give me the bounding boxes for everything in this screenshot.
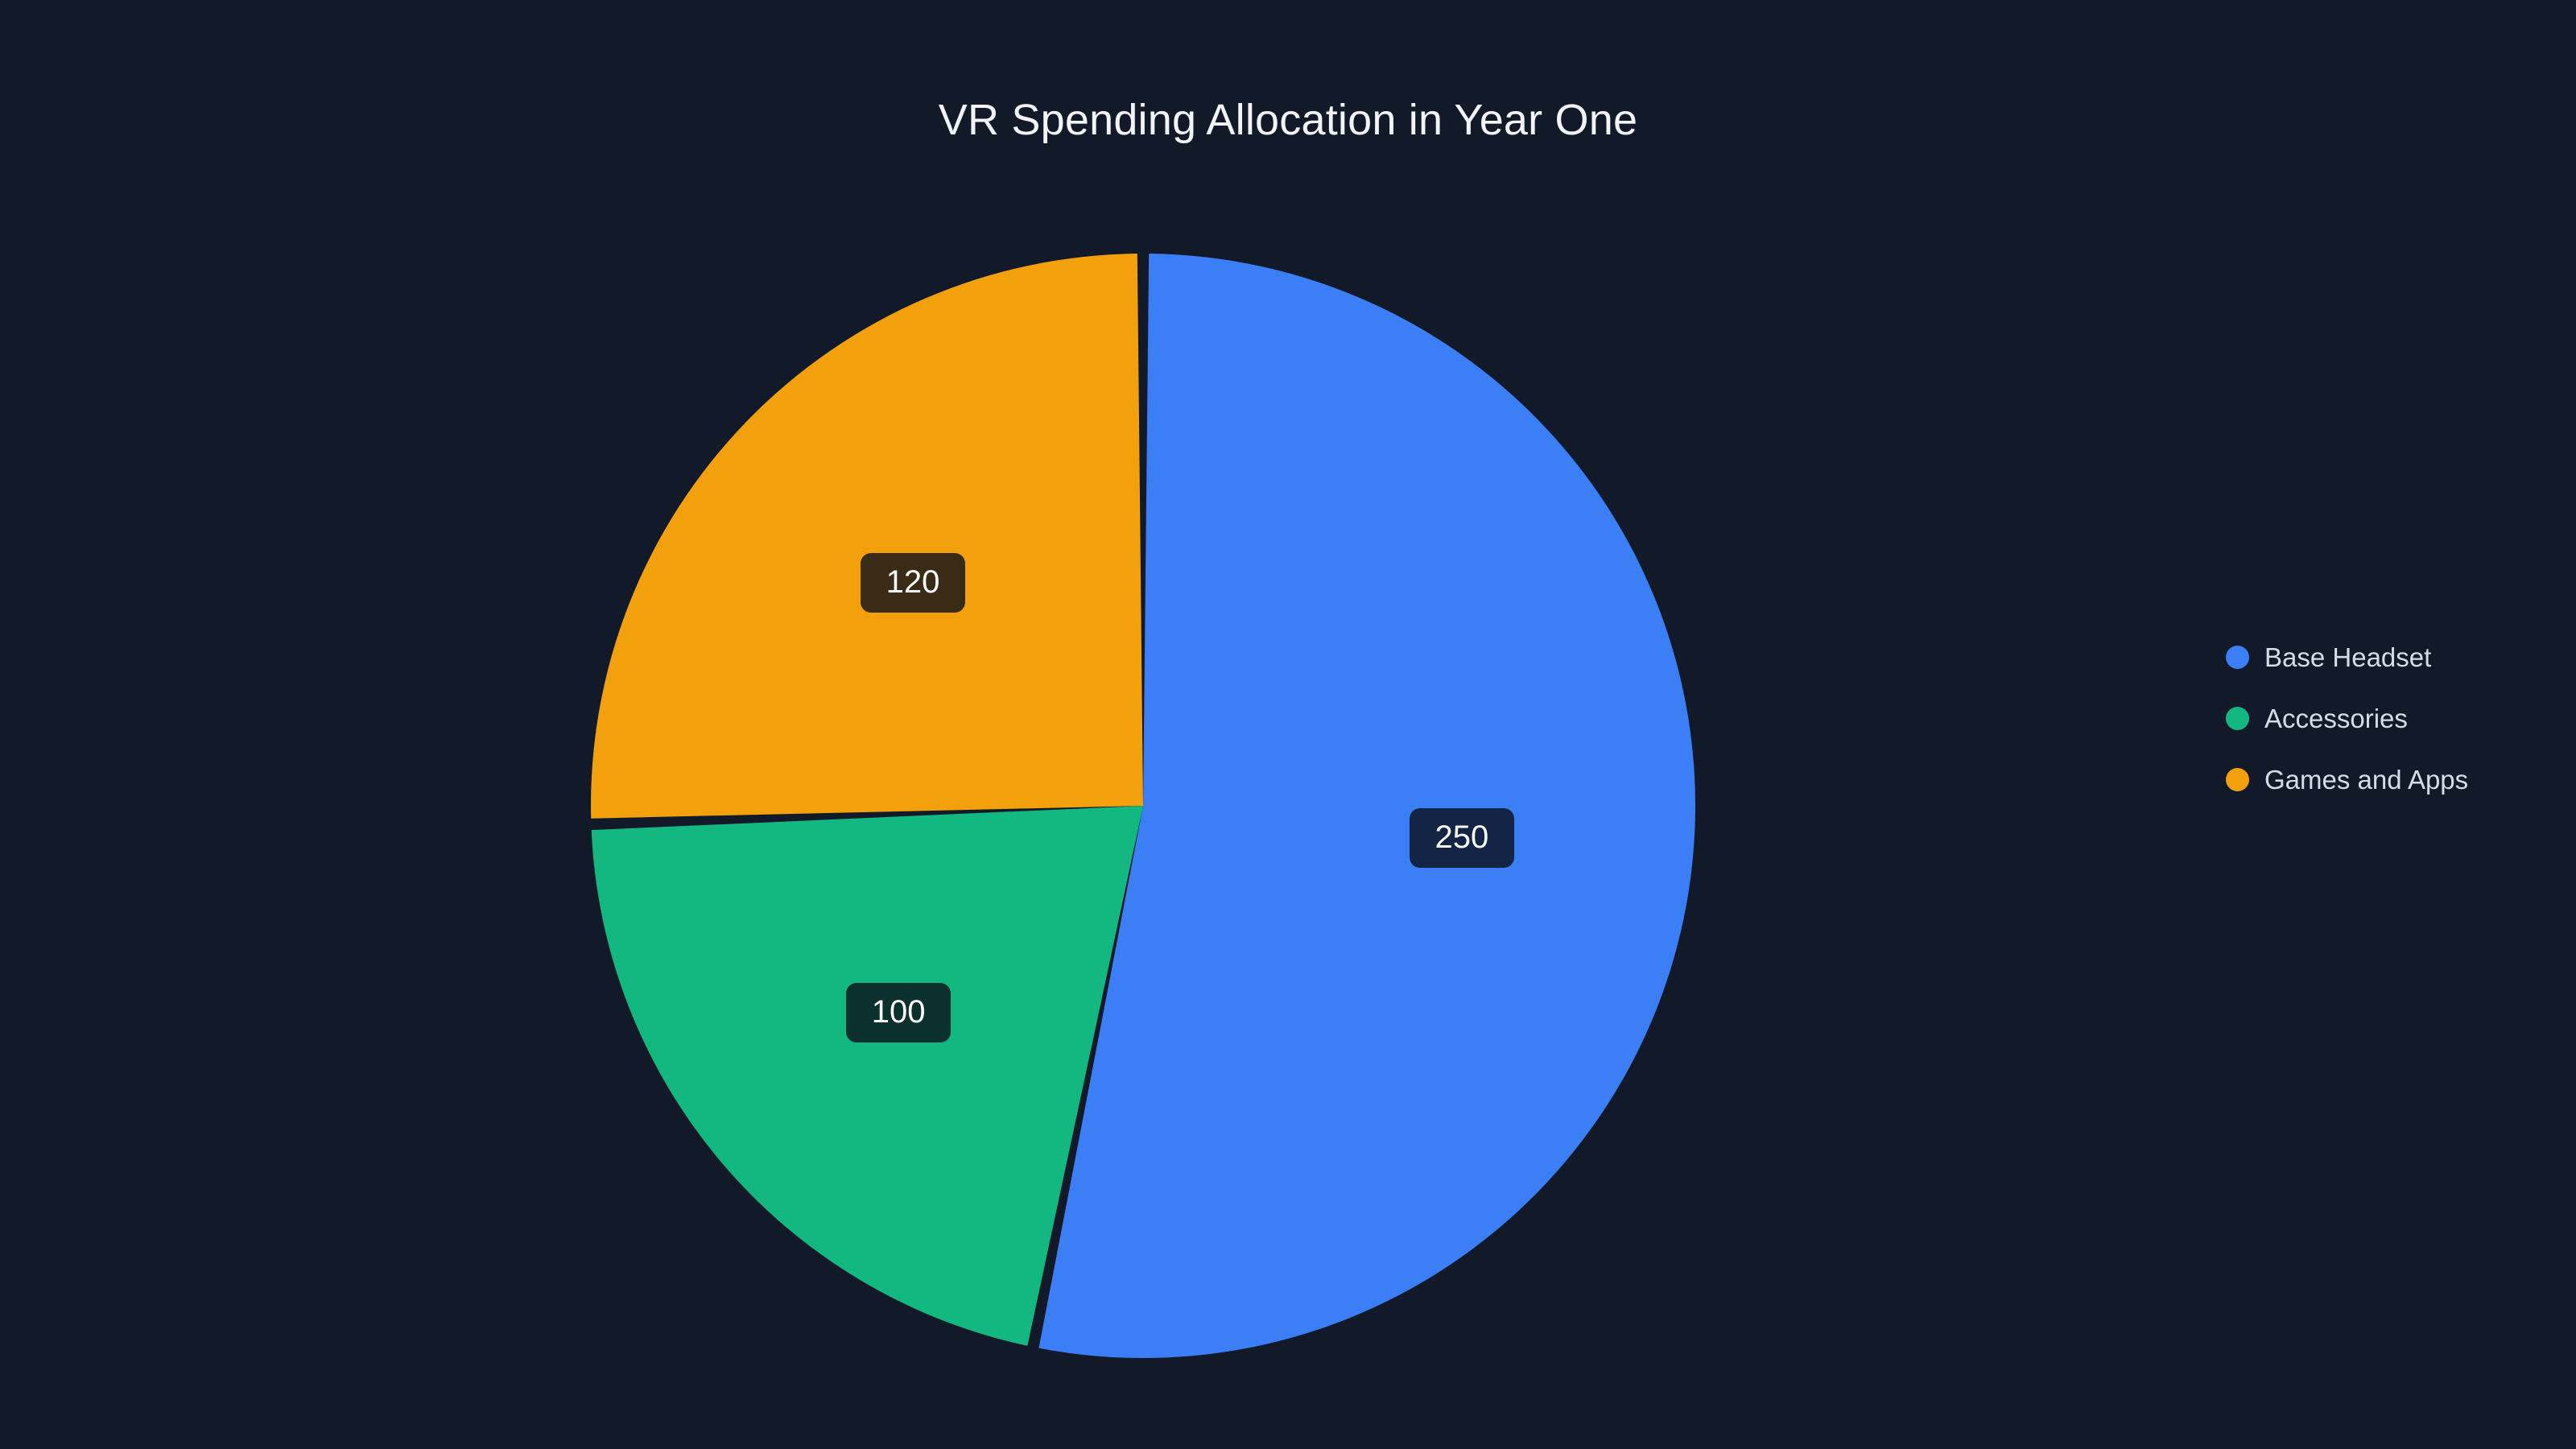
pie-value-label-text: 100 xyxy=(867,996,930,1028)
legend: Base HeadsetAccessoriesGames and Apps xyxy=(2226,644,2468,793)
legend-item-label: Base Headset xyxy=(2264,644,2431,671)
legend-swatch-base-headset xyxy=(2226,646,2249,669)
chart-title: VR Spending Allocation in Year One xyxy=(0,97,2576,144)
legend-item-games-and-apps[interactable]: Games and Apps xyxy=(2226,766,2468,793)
legend-item-base-headset[interactable]: Base Headset xyxy=(2226,644,2468,671)
pie-slice-group xyxy=(591,254,1695,1358)
legend-item-label: Games and Apps xyxy=(2264,766,2468,793)
pie-chart-root: VR Spending Allocation in Year One 25010… xyxy=(0,0,2576,1449)
pie-plot-area xyxy=(0,0,2576,1449)
pie-svg xyxy=(0,0,2576,1449)
pie-slice-base-headset[interactable] xyxy=(1038,254,1695,1358)
pie-value-label-base-headset: 250 xyxy=(1410,808,1514,868)
pie-value-label-accessories: 100 xyxy=(846,983,951,1042)
pie-slice-accessories[interactable] xyxy=(592,806,1143,1346)
legend-swatch-accessories xyxy=(2226,707,2249,730)
legend-item-label: Accessories xyxy=(2264,705,2408,732)
pie-slice-games-and-apps[interactable] xyxy=(591,254,1143,819)
pie-value-label-games-and-apps: 120 xyxy=(861,553,965,613)
legend-swatch-games-and-apps xyxy=(2226,768,2249,791)
legend-item-accessories[interactable]: Accessories xyxy=(2226,705,2468,732)
pie-value-label-text: 120 xyxy=(881,566,944,598)
pie-value-label-text: 250 xyxy=(1430,821,1493,853)
